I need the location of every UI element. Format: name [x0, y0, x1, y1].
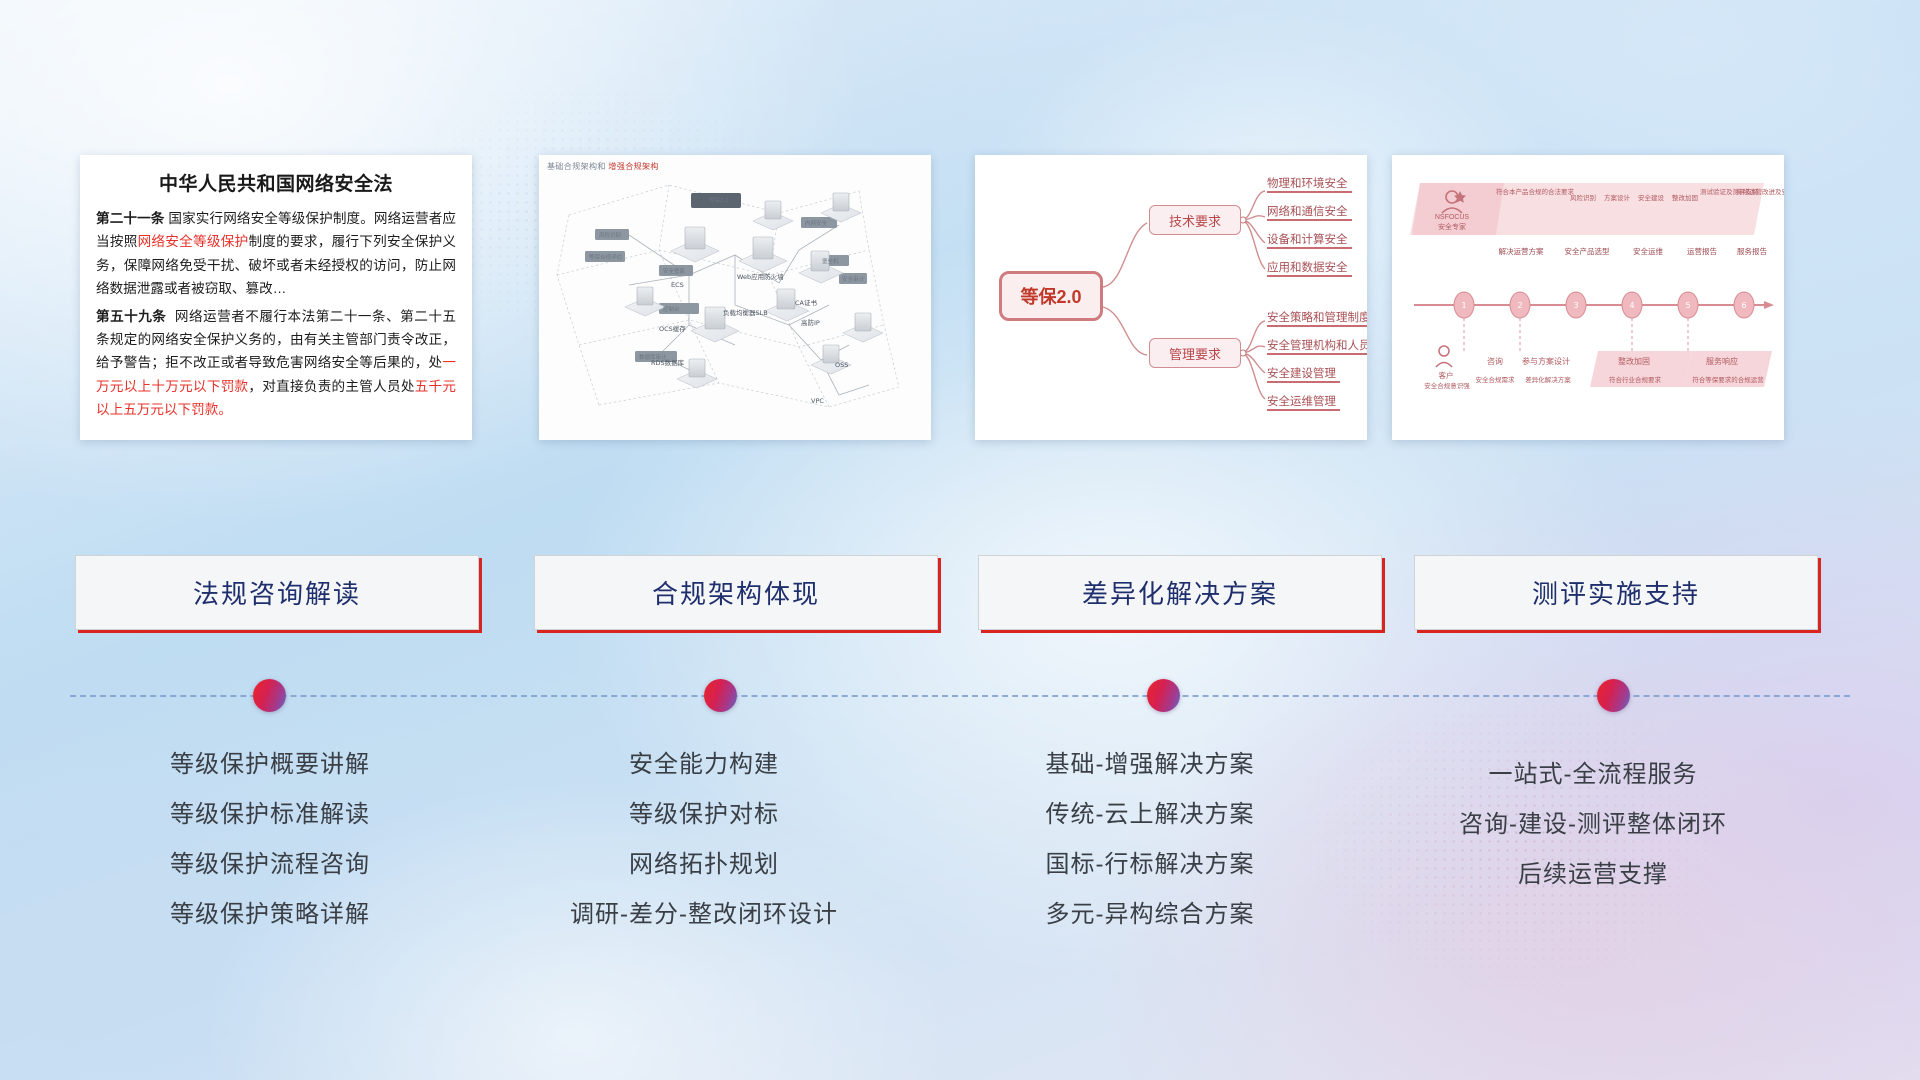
nsfocus-top-label-1: 风险识别: [1568, 195, 1598, 204]
list-item: 调研-差分-整改闭环设计: [494, 890, 914, 940]
list-item: 咨询-建设-测评整体闭环: [1383, 800, 1803, 850]
nsfocus-customer-sub: 安全合规意识强: [1420, 383, 1474, 392]
mindmap-leaf-tech-1[interactable]: 物理和环境安全: [1267, 175, 1348, 193]
mindmap-leaf-mgmt-2[interactable]: 安全管理机构和人员: [1267, 337, 1367, 355]
law-document-body: 中华人民共和国网络安全法 第二十一条 国家实行网络安全等级保护制度。网络运营者应…: [80, 155, 472, 429]
pill-button-4[interactable]: 测评实施支持: [1414, 555, 1818, 630]
svg-text:VPC: VPC: [811, 397, 824, 405]
svg-text:控制台: 控制台: [663, 305, 680, 313]
law-article-59-text-2: ，对直接负责的主管人员处: [248, 379, 414, 394]
timeline-dot-3[interactable]: [1147, 679, 1180, 712]
nsfocus-top-label-4: 整改加固: [1670, 195, 1700, 204]
svg-text:等保合规评估: 等保合规评估: [589, 253, 623, 261]
nsfocus-stage-label-4: 服务报告: [1728, 247, 1776, 257]
timeline-dot-2[interactable]: [704, 679, 737, 712]
mindmap-leaf-tech-2[interactable]: 网络和通信安全: [1267, 203, 1348, 221]
nsfocus-brand-sub: 安全专家: [1416, 223, 1488, 233]
pill-button-2[interactable]: 合规架构体现: [534, 555, 938, 630]
svg-text:Web应用防火墙: Web应用防火墙: [737, 272, 784, 281]
nsfocus-stage-label-0: 解决运营方案: [1492, 247, 1550, 257]
mindmap-leaf-mgmt-4[interactable]: 安全运维管理: [1267, 393, 1336, 411]
list-column-2: 安全能力构建 等级保护对标 网络拓扑规划 调研-差分-整改闭环设计: [494, 740, 914, 940]
nsfocus-bottom-sub-2: 符合行业合规要求: [1600, 377, 1670, 386]
list-item: 基础-增强解决方案: [940, 740, 1360, 790]
list-item: 多元-异构综合方案: [940, 890, 1360, 940]
svg-text:等保2.0: 等保2.0: [709, 196, 729, 204]
svg-text:风险识别: 风险识别: [599, 231, 621, 239]
timeline-dot-4[interactable]: [1597, 679, 1630, 712]
list-item: 等级保护对标: [494, 790, 914, 840]
pill-button-1[interactable]: 法规咨询解读: [75, 555, 479, 630]
list-item: 一站式-全流程服务: [1383, 750, 1803, 800]
nsfocus-bottom-sub-1: 差异化解决方案: [1520, 377, 1576, 386]
mindmap-canvas: 等保2.0 技术要求 管理要求 物理和环境安全 网络和通信安全 设备和计算安全 …: [975, 155, 1367, 440]
architecture-svg: 等保2.0 风险识别 等保合规评估 安全管家 控制台 内网安全 堡垒机 安全审计…: [539, 155, 931, 440]
list-column-1: 等级保护概要讲解 等级保护标准解读 等级保护流程咨询 等级保护策略详解: [60, 740, 480, 940]
nsfocus-bottom-label-3: 服务响应: [1698, 357, 1746, 368]
card-nsfocus-timeline[interactable]: 123 456 NSFOCUS 安全专家: [1392, 155, 1784, 440]
law-article-21: 第二十一条 国家实行网络安全等级保护制度。网络运营者应当按照网络安全等级保护制度…: [96, 207, 456, 301]
mindmap-root-node[interactable]: 等保2.0: [999, 271, 1103, 321]
list-item: 等级保护概要讲解: [60, 740, 480, 790]
svg-text:安全审计: 安全审计: [842, 275, 865, 283]
list-item: 等级保护策略详解: [60, 890, 480, 940]
mindmap-leaf-mgmt-3[interactable]: 安全建设管理: [1267, 365, 1336, 383]
architecture-canvas: 基础合规架构和 增强合规架构: [539, 155, 931, 440]
svg-text:5: 5: [1685, 301, 1690, 310]
mindmap-leaf-mgmt-1[interactable]: 安全策略和管理制度: [1267, 309, 1367, 327]
mindmap-leaf-tech-4[interactable]: 应用和数据安全: [1267, 259, 1348, 277]
pill-label-1: 法规咨询解读: [193, 574, 361, 611]
svg-text:高防IP: 高防IP: [801, 318, 820, 327]
nsfocus-top-label-3: 安全建设: [1636, 195, 1666, 204]
nsfocus-top-label-6: 持续运营改进及安全合规运营: [1736, 189, 1778, 198]
list-item: 网络拓扑规划: [494, 840, 914, 890]
svg-text:ECS: ECS: [671, 281, 684, 289]
nsfocus-stage-label-2: 安全运维: [1624, 247, 1672, 257]
svg-text:CA证书: CA证书: [795, 298, 817, 307]
card-mindmap[interactable]: 等保2.0 技术要求 管理要求 物理和环境安全 网络和通信安全 设备和计算安全 …: [975, 155, 1367, 440]
law-article-59-label: 第五十九条: [96, 309, 166, 324]
svg-text:RDS数据库: RDS数据库: [651, 358, 685, 367]
svg-text:4: 4: [1629, 301, 1634, 310]
mindmap-branch-technical[interactable]: 技术要求: [1149, 205, 1241, 235]
list-item: 国标-行标解决方案: [940, 840, 1360, 890]
card-architecture-diagram[interactable]: 基础合规架构和 增强合规架构: [539, 155, 931, 440]
nsfocus-top-label-0: 符合本产品合规的合法要求: [1496, 189, 1562, 198]
svg-text:安全管家: 安全管家: [663, 267, 686, 275]
list-column-3: 基础-增强解决方案 传统-云上解决方案 国标-行标解决方案 多元-异构综合方案: [940, 740, 1360, 940]
svg-text:2: 2: [1517, 301, 1522, 310]
nsfocus-bottom-label-0: 咨询: [1478, 357, 1512, 368]
mindmap-branch-management[interactable]: 管理要求: [1149, 338, 1241, 368]
svg-text:6: 6: [1741, 301, 1746, 310]
list-item: 后续运营支撑: [1383, 850, 1803, 900]
nsfocus-stage-label-3: 运营报告: [1678, 247, 1726, 257]
list-column-4: 一站式-全流程服务 咨询-建设-测评整体闭环 后续运营支撑: [1383, 750, 1803, 900]
nsfocus-bottom-sub-3: 符合等保要求的合规运营: [1688, 377, 1768, 386]
law-title: 中华人民共和国网络安全法: [96, 169, 456, 196]
nsfocus-stage-label-1: 安全产品选型: [1558, 247, 1616, 257]
svg-text:OCS缓存: OCS缓存: [659, 324, 686, 333]
nsfocus-bottom-label-2: 整改加固: [1610, 357, 1658, 368]
pill-button-3[interactable]: 差异化解决方案: [978, 555, 1382, 630]
nsfocus-brand-name: NSFOCUS: [1416, 213, 1488, 223]
timeline-dot-1[interactable]: [253, 679, 286, 712]
svg-text:堡垒机: 堡垒机: [822, 257, 839, 265]
mindmap-leaf-tech-3[interactable]: 设备和计算安全: [1267, 231, 1348, 249]
nsfocus-top-label-5: 测试验证及测评支持: [1700, 189, 1736, 198]
nsfocus-customer-label: 客户: [1426, 371, 1466, 381]
timeline-dashed-line: [70, 695, 1850, 697]
svg-text:内网安全: 内网安全: [805, 219, 828, 227]
list-item: 等级保护标准解读: [60, 790, 480, 840]
list-item: 等级保护流程咨询: [60, 840, 480, 890]
list-item: 传统-云上解决方案: [940, 790, 1360, 840]
pill-label-4: 测评实施支持: [1532, 574, 1700, 611]
svg-text:1: 1: [1461, 301, 1466, 310]
svg-text:3: 3: [1573, 301, 1578, 310]
svg-text:OSS: OSS: [835, 361, 848, 369]
nsfocus-bottom-label-1: 参与方案设计: [1520, 357, 1572, 368]
nsfocus-brand: NSFOCUS 安全专家: [1416, 213, 1488, 233]
card-law-document[interactable]: 中华人民共和国网络安全法 第二十一条 国家实行网络安全等级保护制度。网络运营者应…: [80, 155, 472, 440]
nsfocus-top-label-2: 方案设计: [1602, 195, 1632, 204]
law-article-21-highlight: 网络安全等级保护: [138, 234, 249, 249]
svg-text:负载均衡器SLB: 负载均衡器SLB: [723, 308, 768, 317]
law-article-21-label: 第二十一条: [96, 211, 165, 226]
list-item: 安全能力构建: [494, 740, 914, 790]
pill-label-3: 差异化解决方案: [1082, 574, 1278, 611]
nsfocus-bottom-sub-0: 安全合规需求: [1474, 377, 1516, 386]
nsfocus-canvas: 123 456 NSFOCUS 安全专家: [1392, 155, 1784, 440]
pill-label-2: 合规架构体现: [652, 574, 820, 611]
law-article-59: 第五十九条 网络运营者不履行本法第二十一条、第二十五条规定的网络安全保护义务的，…: [96, 305, 456, 422]
